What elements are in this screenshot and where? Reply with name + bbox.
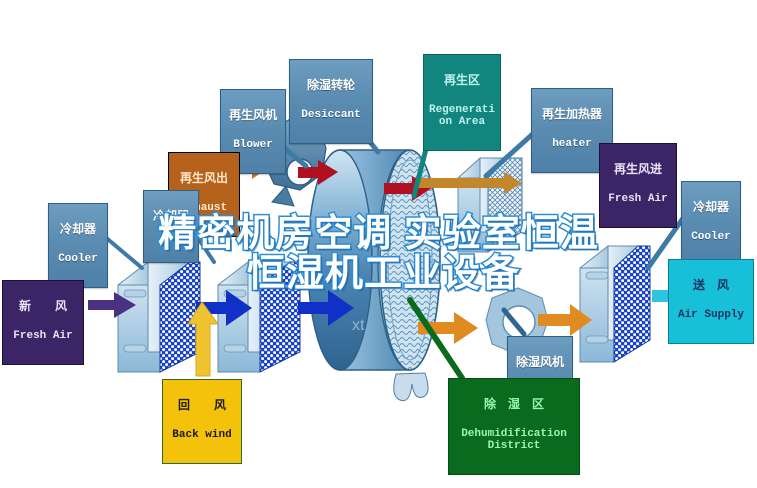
label-en: Fresh Air	[7, 331, 79, 343]
dehumidifier-schematic-illustration: xt	[0, 0, 757, 488]
label-cn: 再生风机	[225, 109, 281, 122]
svg-text:xt: xt	[352, 317, 365, 334]
label-fresh-air-intake: 新 风 Fresh Air	[2, 280, 84, 365]
label-en: Cooler	[686, 232, 736, 244]
label-desiccant-wheel: 除湿转轮 Desiccant	[289, 59, 373, 144]
label-en: Regenerati on Area	[428, 105, 496, 129]
label-dehumidification-district: 除 湿 区 Dehumidification District	[448, 378, 580, 475]
label-cn: 冷却器	[53, 223, 103, 236]
label-en: Cooler	[53, 254, 103, 266]
label-regeneration-area: 再生区 Regenerati on Area	[423, 54, 501, 151]
label-cooler-right: 冷却器 Cooler	[681, 181, 741, 266]
diagram-canvas: xt 除湿转轮 Desiccant 再生风机 Blower 再生区 Regene…	[0, 0, 757, 488]
label-cn: 除湿转轮	[294, 79, 368, 92]
label-cn: 冷却器	[148, 210, 194, 223]
label-air-supply: 送 风 Air Supply	[668, 259, 754, 344]
label-cn: 新 风	[7, 300, 79, 313]
label-cn: 再生加热器	[536, 108, 608, 121]
label-en: Air Supply	[673, 310, 749, 322]
label-cn: 回 风	[167, 399, 237, 412]
label-cn: 再生区	[428, 74, 496, 87]
post-cooler-unit	[580, 246, 650, 362]
label-cn: 送 风	[673, 279, 749, 292]
label-en: heater	[536, 139, 608, 151]
label-cn: 冷却器	[686, 201, 736, 214]
label-cn: 除 湿 区	[453, 398, 575, 411]
label-regeneration-fresh-air: 再生风进 Fresh Air	[599, 143, 677, 228]
cooler-unit-left	[118, 262, 200, 372]
label-en: Fresh Air	[604, 194, 672, 206]
label-en: Desiccant	[294, 110, 368, 122]
label-en: Blower	[225, 140, 281, 152]
label-en: Back wind	[167, 430, 237, 442]
label-cooler-left-upper: 冷却器	[143, 190, 199, 263]
label-cn: 再生风进	[604, 163, 672, 176]
label-cooler-left: 冷却器 Cooler	[48, 203, 108, 288]
label-cn: 除湿风机	[512, 356, 568, 369]
label-back-wind: 回 风 Back wind	[162, 379, 242, 464]
label-cn: 再生风出	[173, 172, 235, 185]
label-en: Dehumidification District	[453, 429, 575, 453]
